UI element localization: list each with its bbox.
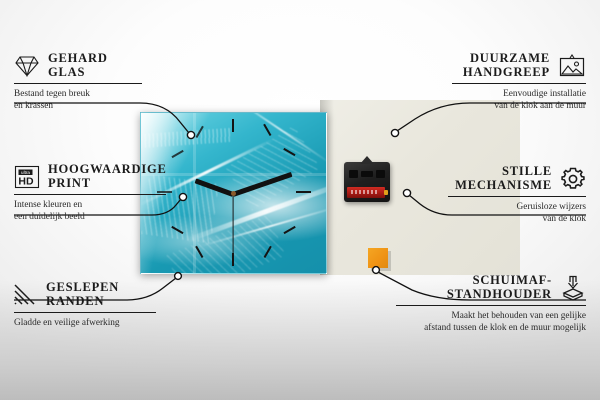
feature-title: HOOGWAARDIGE PRINT xyxy=(48,163,167,190)
feature-description: Eenvoudige installatie van de klok aan d… xyxy=(452,89,586,112)
infographic-canvas: GEHARD GLAS Bestand tegen breuk en krass… xyxy=(0,0,600,400)
divider xyxy=(452,83,586,84)
feature-title: GESLEPEN RANDEN xyxy=(46,281,119,308)
diagonal-lines-icon xyxy=(14,284,38,306)
ultra-hd-icon: ultra HD xyxy=(14,165,40,189)
feather-texture xyxy=(141,128,232,148)
feature-description: Gladde en veilige afwerking xyxy=(14,318,156,329)
feature-title: GEHARD GLAS xyxy=(48,52,108,79)
picture-frame-icon xyxy=(558,54,586,78)
clock-tick xyxy=(283,226,295,234)
gear-icon xyxy=(560,166,586,192)
feature-title: SCHUIMAF- STANDHOUDER xyxy=(447,274,552,301)
feature-hoogwaardige-print[interactable]: ultra HD HOOGWAARDIGE PRINT Intense kleu… xyxy=(14,163,166,223)
feature-title: DUURZAME HANDGREEP xyxy=(463,52,550,79)
glass-clock-face xyxy=(140,112,327,274)
clock-tick xyxy=(232,119,234,132)
feature-header: DUURZAME HANDGREEP xyxy=(452,52,586,79)
feature-description: Bestand tegen breuk en krassen xyxy=(14,89,142,112)
clock-hand-second xyxy=(232,194,233,256)
svg-text:ultra: ultra xyxy=(21,170,30,175)
feature-stille-mechanisme[interactable]: STILLE MECHANISME Geruisloze wijzers van… xyxy=(448,165,586,225)
feature-description: Intense kleuren en een duidelijk beeld xyxy=(14,200,166,223)
feature-title: STILLE MECHANISME xyxy=(455,165,552,192)
feature-schuimafstandhouder[interactable]: SCHUIMAF- STANDHOUDER Maakt het behouden… xyxy=(396,274,586,334)
divider xyxy=(14,312,156,313)
movement-battery xyxy=(347,187,385,198)
feature-geslepen-randen[interactable]: GESLEPEN RANDEN Gladde en veilige afwerk… xyxy=(14,281,156,330)
feature-header: STILLE MECHANISME xyxy=(448,165,586,192)
diamond-icon xyxy=(14,55,40,77)
movement-slot xyxy=(376,170,385,178)
divider xyxy=(448,196,586,197)
download-pad-icon xyxy=(560,275,586,301)
battery-label xyxy=(351,190,379,194)
clock-tick xyxy=(296,191,311,193)
feature-header: GEHARD GLAS xyxy=(14,52,142,79)
feature-header: ultra HD HOOGWAARDIGE PRINT xyxy=(14,163,166,190)
product-photo xyxy=(140,100,340,275)
feature-duurzame-handgreep[interactable]: DUURZAME HANDGREEP Eenvoudige installati… xyxy=(452,52,586,112)
feature-description: Geruisloze wijzers van de klok xyxy=(448,202,586,225)
clock-movement xyxy=(344,162,390,202)
foam-spacer-pad xyxy=(368,248,388,268)
clock-tick xyxy=(171,150,183,158)
svg-text:HD: HD xyxy=(18,175,34,187)
divider xyxy=(14,194,166,195)
feature-description: Maakt het behouden van een gelijke afsta… xyxy=(396,311,586,334)
feature-gehard-glas[interactable]: GEHARD GLAS Bestand tegen breuk en krass… xyxy=(14,52,142,112)
divider xyxy=(14,83,142,84)
feature-header: GESLEPEN RANDEN xyxy=(14,281,156,308)
movement-slot xyxy=(349,170,358,178)
feature-header: SCHUIMAF- STANDHOUDER xyxy=(396,274,586,301)
clock-tick xyxy=(264,124,272,136)
movement-slot xyxy=(361,171,373,177)
clock-center-pin xyxy=(231,191,236,196)
divider xyxy=(396,305,586,306)
